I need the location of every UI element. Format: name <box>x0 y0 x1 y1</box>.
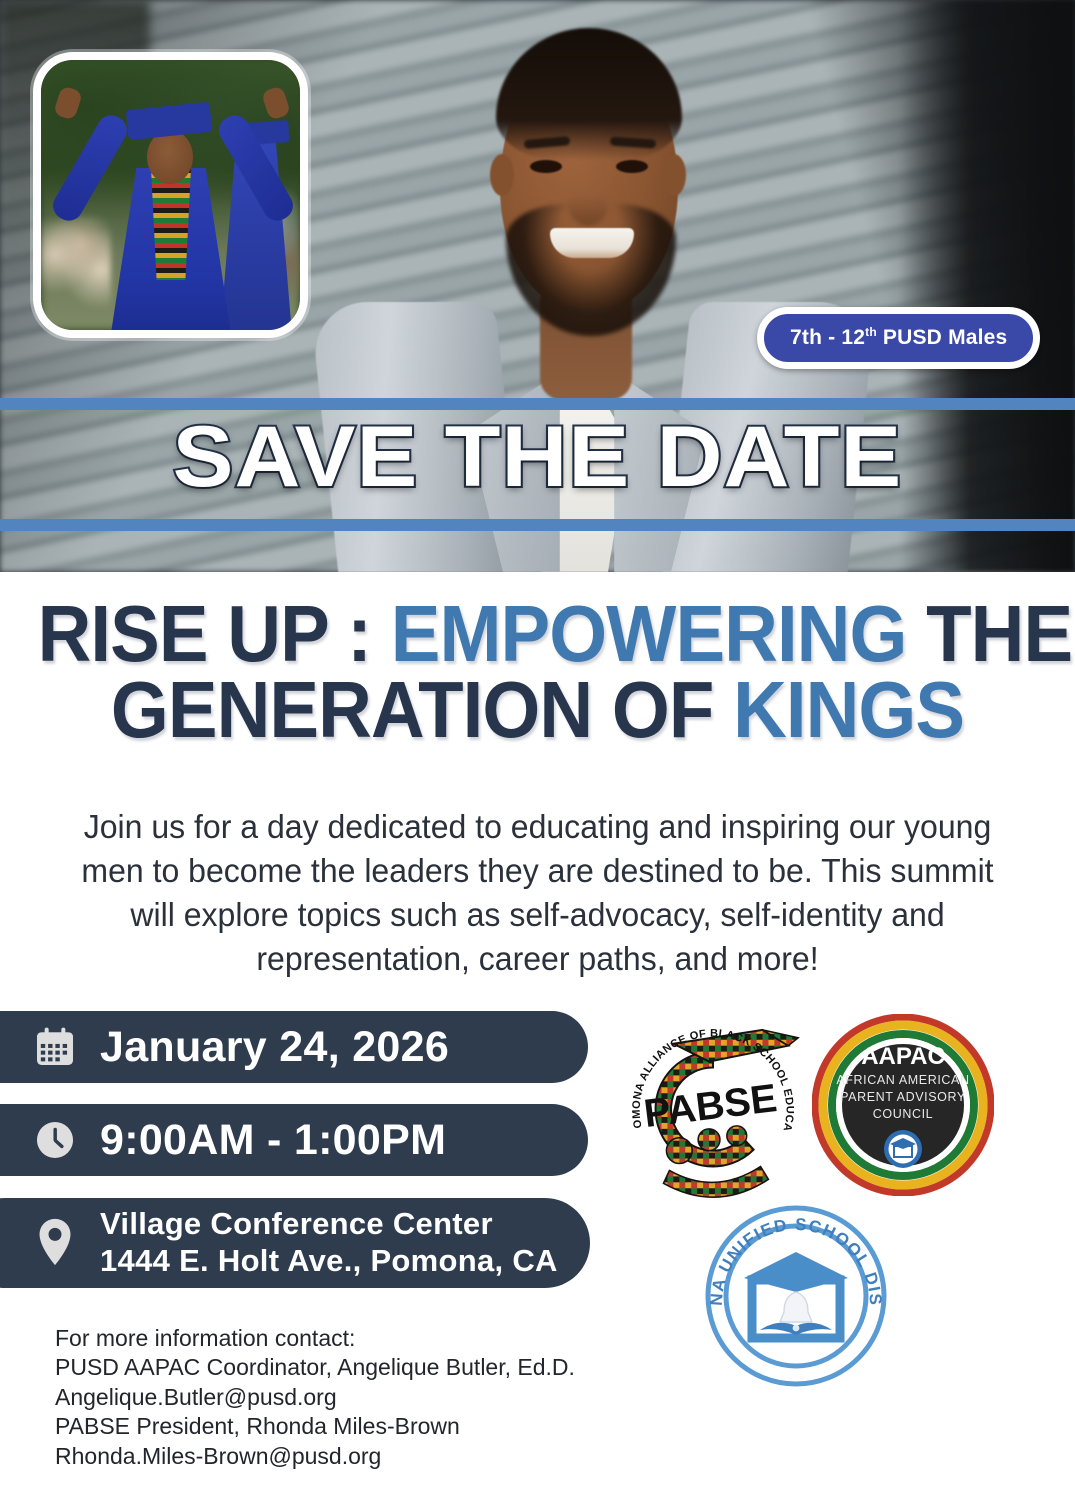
map-pin-icon <box>32 1216 78 1270</box>
ear-right <box>662 154 686 196</box>
eye-right <box>616 160 648 173</box>
beard <box>506 204 676 336</box>
page-title: RISE UP : EMPOWERING THE NEXT GENERATION… <box>38 596 1038 748</box>
pusd-logo: POMONA UNIFIED SCHOOL DISTRICT <box>700 1200 892 1392</box>
audience-badge-suffix: PUSD Males <box>877 326 1008 349</box>
event-location-line1: Village Conference Center <box>100 1206 493 1241</box>
graduation-photo-inset <box>33 52 308 338</box>
graduate-face <box>147 130 193 184</box>
aapac-title: AAPAC <box>861 1043 945 1070</box>
event-date-text: January 24, 2026 <box>100 1023 449 1072</box>
save-the-date-title: SAVE THE DATE <box>0 408 1075 507</box>
event-location-pill: Village Conference Center 1444 E. Holt A… <box>0 1198 590 1288</box>
aapac-line-2: PARENT ADVISORY <box>840 1090 966 1104</box>
contact-email-president[interactable]: Rhonda.Miles-Brown@pusd.org <box>55 1442 675 1471</box>
banner-bar-bottom <box>0 519 1075 531</box>
eye-left <box>530 160 562 173</box>
event-location-line2: 1444 E. Holt Ave., Pomona, CA <box>100 1243 558 1280</box>
graduate-main-person <box>103 106 241 338</box>
kente-stole <box>151 168 191 280</box>
contact-email-coordinator[interactable]: Angelique.Butler@pusd.org <box>55 1383 675 1412</box>
aapac-logo: AAPAC AFRICAN AMERICAN PARENT ADVISORY C… <box>812 1014 994 1196</box>
event-time-pill: 9:00AM - 1:00PM <box>0 1104 588 1176</box>
graduation-crowd-left <box>41 216 111 312</box>
ear-left <box>490 154 514 196</box>
event-description: Join us for a day dedicated to educating… <box>74 805 1000 981</box>
aapac-line-3: COUNCIL <box>873 1107 933 1121</box>
contact-line-1: For more information contact: <box>55 1324 675 1353</box>
graduation-cap <box>126 102 213 141</box>
headline-line-2: GENERATION OF KINGS <box>38 672 1038 748</box>
audience-badge-prefix: 7th - 12 <box>790 326 865 349</box>
event-time-text: 9:00AM - 1:00PM <box>100 1116 446 1165</box>
event-location-text: Village Conference Center 1444 E. Holt A… <box>100 1206 558 1279</box>
headline-line2-accent: KINGS <box>733 665 964 754</box>
contact-line-4: PABSE President, Rhonda Miles-Brown <box>55 1412 675 1441</box>
calendar-icon <box>32 1024 78 1070</box>
smile-mouth <box>550 228 634 258</box>
hero-photo: 7th - 12th PUSD Males SAVE THE DATE <box>0 0 1075 572</box>
event-date-pill: January 24, 2026 <box>0 1011 588 1083</box>
clock-icon <box>32 1117 78 1163</box>
aapac-line-1: AFRICAN AMERICAN <box>836 1073 969 1087</box>
contact-block: For more information contact: PUSD AAPAC… <box>55 1324 675 1471</box>
audience-badge: 7th - 12th PUSD Males <box>757 307 1040 369</box>
pabse-logo: THE POMONA ALLIANCE OF BLACK SCHOOL EDUC… <box>614 1016 812 1214</box>
contact-line-2: PUSD AAPAC Coordinator, Angelique Butler… <box>55 1353 675 1382</box>
flyer-page: 7th - 12th PUSD Males SAVE THE DATE RISE… <box>0 0 1075 1505</box>
headline-line2-part1: GENERATION OF <box>111 665 733 754</box>
aapac-inner-pusd-seal <box>884 1130 922 1168</box>
audience-badge-superscript: th <box>865 325 877 339</box>
headline-line-1: RISE UP : EMPOWERING THE NEXT <box>38 596 1038 672</box>
